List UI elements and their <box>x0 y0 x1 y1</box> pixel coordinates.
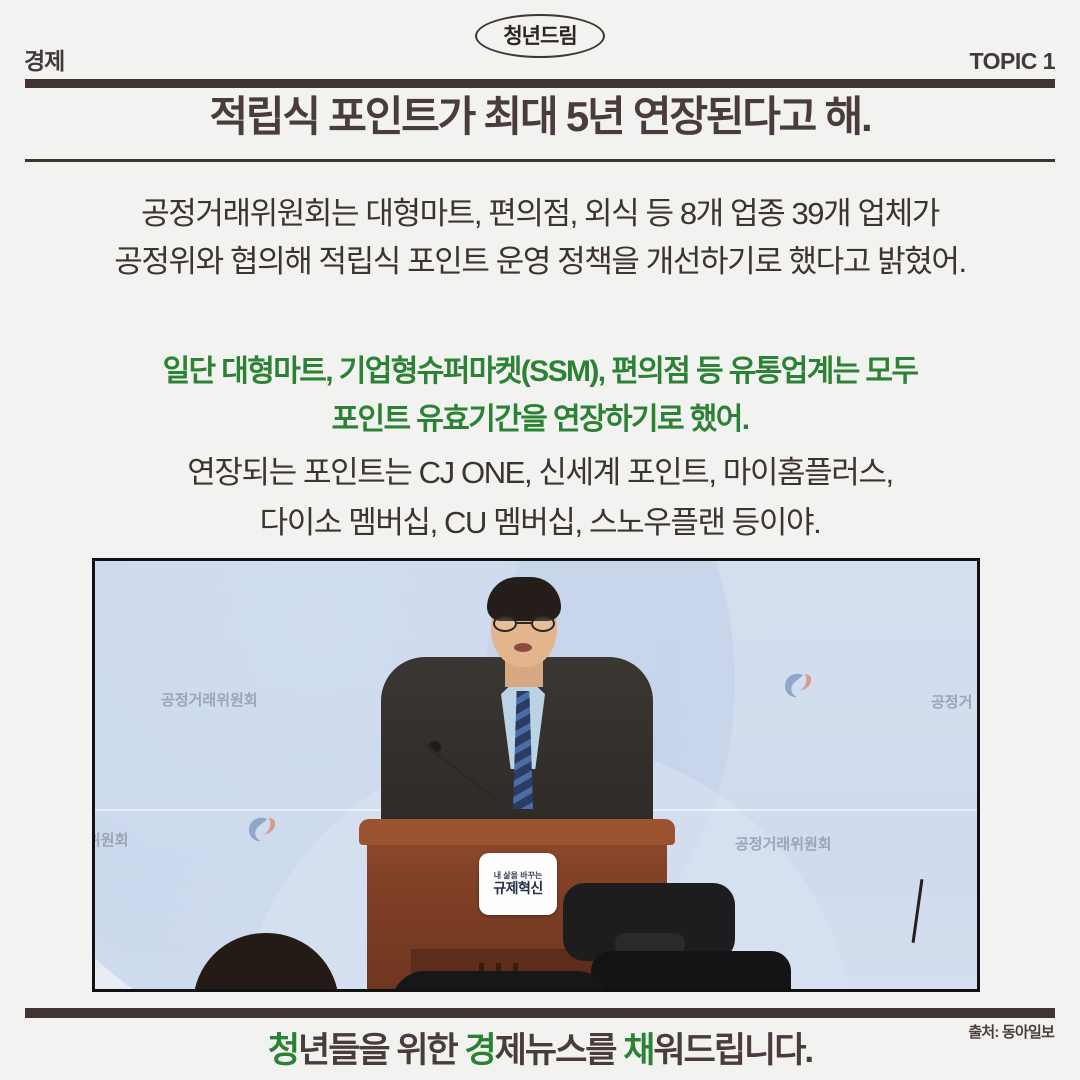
podium-sign-main-text: 규제혁신 <box>493 881 543 896</box>
lede-line-1: 공정거래위원회는 대형마트, 편의점, 외식 등 8개 업종 39개 업체가 <box>0 190 1080 238</box>
page-title: 적립식 포인트가 최대 5년 연장된다고 해. <box>0 93 1080 141</box>
backdrop-label-6: 공정거래위원회 <box>735 833 832 854</box>
header-divider-thick <box>25 79 1055 88</box>
brand-logo: 청년드림 <box>475 14 605 58</box>
header-divider-thin <box>25 159 1055 162</box>
card-header: 청년드림 경제 TOPIC 1 <box>0 0 1080 78</box>
tagline-part-3: 제뉴스를 <box>495 1031 624 1070</box>
highlight-paragraph: 일단 대형마트, 기업형슈퍼마켓(SSM), 편의점 등 유통업계는 모두 포인… <box>0 348 1080 444</box>
backdrop-label-1: 공정거래위원회 <box>161 689 258 710</box>
footer-divider <box>25 1008 1055 1018</box>
podium-top <box>359 819 675 845</box>
tagline-part-1: 년들을 위한 <box>298 1031 464 1070</box>
topic-label: TOPIC 1 <box>969 50 1055 73</box>
tagline-part-4: 채 <box>623 1031 653 1070</box>
highlight-line-1: 일단 대형마트, 기업형슈퍼마켓(SSM), 편의점 등 유통업계는 모두 <box>0 348 1080 396</box>
list-line-1: 연장되는 포인트는 CJ ONE, 신세계 포인트, 마이홈플러스, <box>0 448 1080 498</box>
taegeuk-logo-icon <box>245 813 275 847</box>
taegeuk-logo-icon <box>781 669 811 703</box>
glasses-icon <box>493 615 555 632</box>
category-label: 경제 <box>24 50 64 73</box>
footer-tagline: 청년들을 위한 경제뉴스를 채워드립니다. <box>0 1032 1080 1071</box>
tagline-part-2: 경 <box>464 1031 494 1070</box>
backdrop-label-3: 공정거 <box>931 691 972 712</box>
photo-stage: 공정거래위원회 공정거래위원회 공정거 위원회 공정 공정거래위원회 <box>95 561 977 989</box>
foreground-silhouette <box>391 971 611 989</box>
tagline-part-0: 청 <box>268 1031 298 1070</box>
backdrop-label-4: 위원회 <box>95 829 128 850</box>
lede-paragraph: 공정거래위원회는 대형마트, 편의점, 외식 등 8개 업종 39개 업체가 공… <box>0 190 1080 286</box>
news-photo: 공정거래위원회 공정거래위원회 공정거 위원회 공정 공정거래위원회 <box>92 558 980 992</box>
highlight-line-2: 포인트 유효기간을 연장하기로 했어. <box>0 396 1080 444</box>
brand-logo-label: 청년드림 <box>503 26 576 47</box>
podium-sign: 내 삶을 바꾸는 규제혁신 <box>479 853 557 915</box>
list-line-2: 다이소 멤버십, CU 멤버십, 스노우플랜 등이야. <box>0 498 1080 548</box>
tagline-part-5: 워드립니다. <box>653 1031 812 1070</box>
speaker-mouth <box>514 643 532 652</box>
lede-line-2: 공정위와 협의해 적립식 포인트 운영 정책을 개선하기로 했다고 밝혔어. <box>0 238 1080 286</box>
foreground-chair-second <box>591 951 791 989</box>
list-paragraph: 연장되는 포인트는 CJ ONE, 신세계 포인트, 마이홈플러스, 다이소 멤… <box>0 448 1080 548</box>
